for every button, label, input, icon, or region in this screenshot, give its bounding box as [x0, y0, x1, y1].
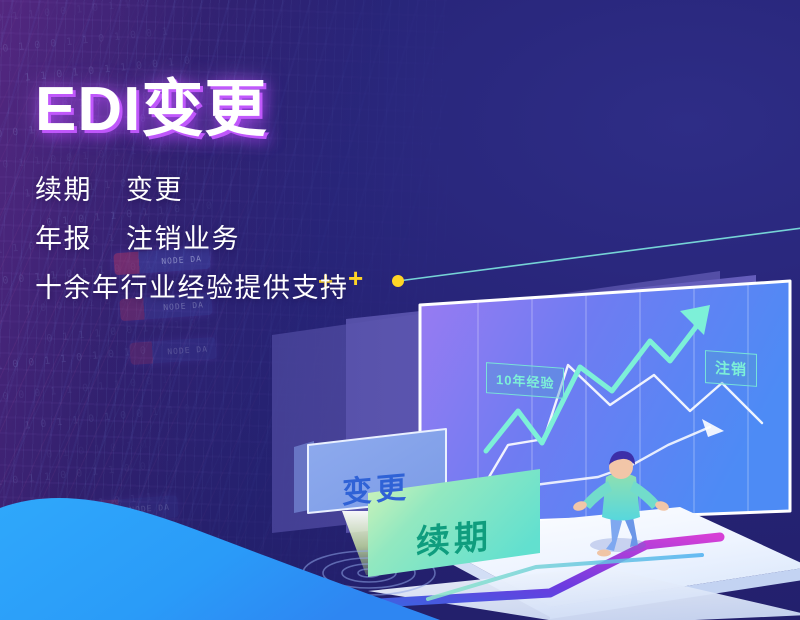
screen-label-cancel: 注销 [705, 350, 757, 387]
plus-icon: + [348, 265, 363, 291]
person-foot [597, 550, 611, 557]
binary-row: 0 1 0 0 1 1 0 1 0 0 1 [2, 26, 171, 55]
decor-dot [392, 275, 404, 287]
binary-row: 1 0 1 1 0 1 0 0 1 1 0 [24, 403, 193, 432]
subtitle-part: 十余年行业经验提供支持 [35, 273, 349, 303]
decor-guide-line [398, 227, 800, 281]
subtitle-part: 注销业务 [126, 224, 240, 254]
subtitle-line-2: 年报 注销业务 [35, 226, 349, 253]
binary-row: 0 0 0 1 1 0 1 1 0 0 1 [2, 374, 171, 403]
person-torso [602, 473, 640, 521]
subtitle-line-3: 十余年行业经验提供支持 [35, 275, 349, 302]
binary-row: 1 1 0 0 1 1 0 1 0 1 0 [0, 345, 149, 374]
page-title: EDI变更 [35, 78, 349, 141]
subtitle-part: 续期 [35, 175, 92, 205]
subtitle-list: 续期 变更 年报 注销业务 十余年行业经验提供支持 [35, 177, 349, 302]
headline-block: EDI变更 续期 变更 年报 注销业务 十余年行业经验提供支持 [35, 78, 349, 324]
screen-label-experience: 10年经验 [486, 362, 564, 399]
subtitle-part: 变更 [126, 175, 183, 205]
subtitle-line-1: 续期 变更 [35, 177, 349, 204]
edi-banner: 1 0 1 1 0 0 1 0 1 1 00 1 0 0 1 1 0 1 0 0… [0, 0, 800, 620]
binary-row: 0 1 0 1 0 1 1 1 0 0 1 [46, 432, 215, 461]
wave-shape [0, 498, 440, 620]
binary-row: 1 0 1 1 0 0 1 0 1 1 0 [0, 0, 149, 26]
subtitle-part: 年报 [35, 224, 92, 254]
bottom-wave [0, 460, 440, 620]
